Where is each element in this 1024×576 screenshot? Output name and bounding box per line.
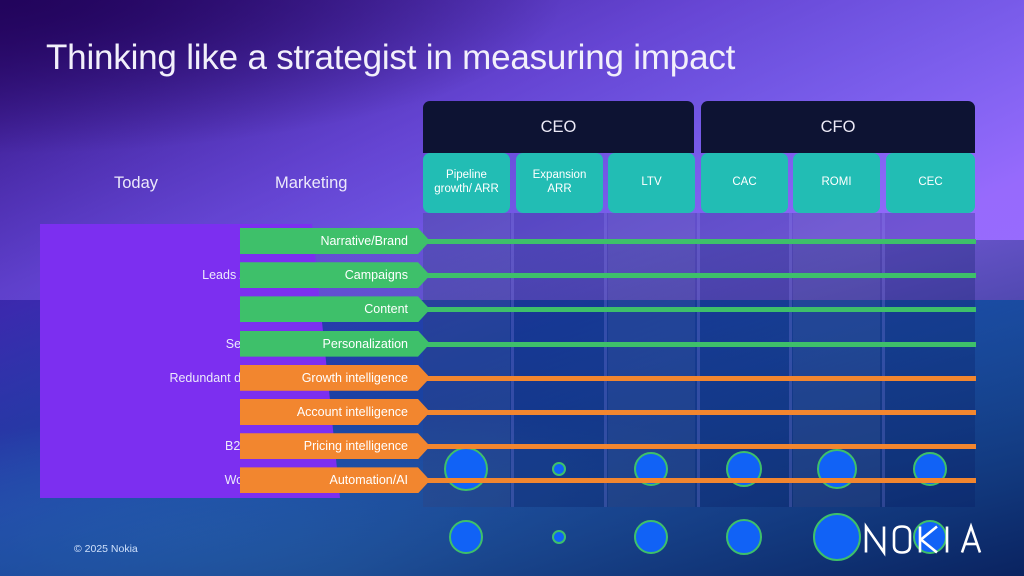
marketing-capability-bar[interactable]: Pricing intelligence bbox=[240, 433, 430, 459]
row-label-marketing: Personalization bbox=[323, 337, 430, 351]
nokia-logo bbox=[864, 521, 988, 557]
row-label-marketing: Growth intelligence bbox=[302, 371, 430, 385]
kpi-header-romi[interactable]: ROMI bbox=[793, 153, 880, 213]
marketing-capability-bar[interactable]: Narrative/Brand bbox=[240, 228, 430, 254]
column-group-header-cfo: CFO bbox=[701, 101, 975, 153]
matrix-row: Workflow-basedAutomation/AI bbox=[0, 467, 1024, 493]
column-group-header-ceo: CEO bbox=[423, 101, 694, 153]
row-label-marketing: Content bbox=[364, 302, 430, 316]
matrix-row: Redundant data collectionGrowth intellig… bbox=[0, 365, 1024, 391]
column-divider-5 bbox=[882, 213, 885, 507]
matrix-row: DownloadsContent bbox=[0, 296, 1024, 322]
marketing-capability-bar[interactable]: Growth intelligence bbox=[240, 365, 430, 391]
row-label-marketing: Pricing intelligence bbox=[304, 439, 430, 453]
matrix-value-dot[interactable] bbox=[449, 520, 483, 554]
marketing-capability-bar[interactable]: Personalization bbox=[240, 331, 430, 357]
matrix-row: SOVNarrative/Brand bbox=[0, 228, 1024, 254]
axis-header-marketing: Marketing bbox=[275, 174, 347, 193]
column-divider-2 bbox=[604, 213, 607, 507]
marketing-capability-bar[interactable]: Campaigns bbox=[240, 262, 430, 288]
row-label-marketing: Automation/AI bbox=[329, 473, 430, 487]
matrix-row: Leads / ImpressionsCampaigns bbox=[0, 262, 1024, 288]
kpi-header-expansion-arr[interactable]: Expansion ARR bbox=[516, 153, 603, 213]
kpi-header-ltv[interactable]: LTV bbox=[608, 153, 695, 213]
matrix-value-dot[interactable] bbox=[813, 513, 861, 561]
column-divider-1 bbox=[511, 213, 514, 507]
page-title: Thinking like a strategist in measuring … bbox=[46, 38, 735, 78]
matrix-value-dot[interactable] bbox=[634, 520, 668, 554]
marketing-capability-bar[interactable]: Content bbox=[240, 296, 430, 322]
column-divider-4 bbox=[789, 213, 792, 507]
copyright-text: © 2025 Nokia bbox=[74, 543, 138, 555]
kpi-header-pipeline-growth-arr[interactable]: Pipeline growth/ ARR bbox=[423, 153, 510, 213]
matrix-value-dot[interactable] bbox=[726, 519, 762, 555]
matrix-row: B2B has no rolePricing intelligence bbox=[0, 433, 1024, 459]
row-label-marketing: Campaigns bbox=[345, 268, 430, 282]
column-divider-3 bbox=[697, 213, 700, 507]
kpi-header-cec[interactable]: CEC bbox=[886, 153, 975, 213]
marketing-capability-bar[interactable]: Account intelligence bbox=[240, 399, 430, 425]
matrix-row: Segment-basedPersonalization bbox=[0, 331, 1024, 357]
row-label-marketing: Account intelligence bbox=[297, 405, 430, 419]
matrix-value-dot[interactable] bbox=[552, 530, 566, 544]
row-label-marketing: Narrative/Brand bbox=[320, 234, 430, 248]
axis-header-today: Today bbox=[114, 174, 158, 193]
marketing-capability-bar[interactable]: Automation/AI bbox=[240, 467, 430, 493]
kpi-header-cac[interactable]: CAC bbox=[701, 153, 788, 213]
matrix-row: Sales-drivenAccount intelligence bbox=[0, 399, 1024, 425]
